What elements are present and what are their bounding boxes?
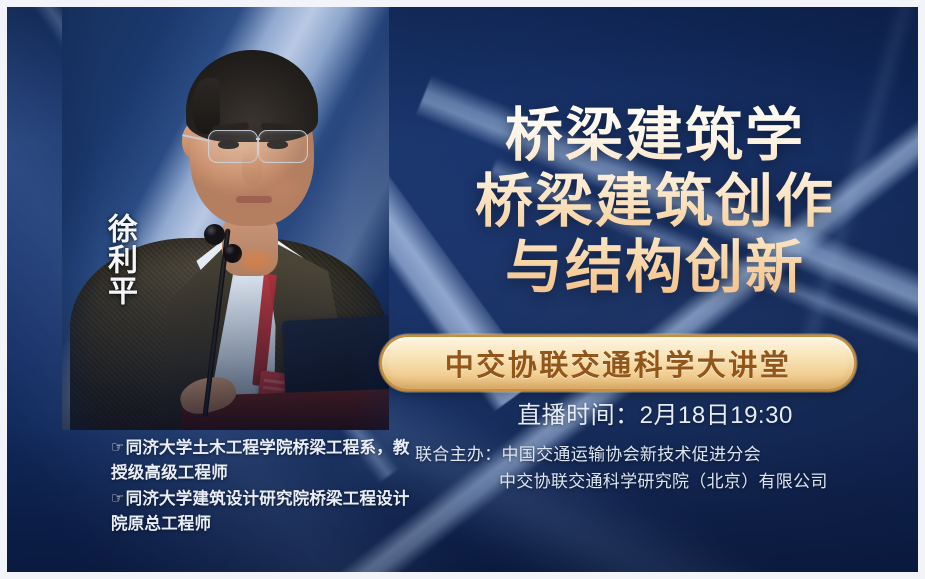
organizer-line-1: 联合主办：中国交通运输协会新技术促进分会 [415, 441, 915, 468]
page-title: 桥梁建筑学 桥梁建筑创作 与结构创新 [399, 103, 911, 301]
webinar-poster: 徐利平 ☞同济大学土木工程学院桥梁工程系，教授级高级工程师 ☞同济大学建筑设计研… [0, 0, 925, 579]
pointing-hand-icon: ☞ [111, 439, 125, 456]
livestream-time: 直播时间：2月18日19:30 [399, 395, 911, 430]
title-line-1: 桥梁建筑学 [399, 103, 911, 169]
credential-item: ☞同济大学土木工程学院桥梁工程系，教授级高级工程师 [111, 435, 411, 486]
organizers: 联合主办：中国交通运输协会新技术促进分会 中交协联交通科学研究院（北京）有限公司 [415, 441, 915, 495]
credential-text: 同济大学土木工程学院桥梁工程系，教授级高级工程师 [111, 439, 410, 482]
credential-text: 同济大学建筑设计研究院桥梁工程设计院原总工程师 [111, 490, 410, 533]
title-line-2: 桥梁建筑创作 [399, 169, 911, 235]
speaker-credentials: ☞同济大学土木工程学院桥梁工程系，教授级高级工程师 ☞同济大学建筑设计研究院桥梁… [111, 435, 411, 537]
credential-item: ☞同济大学建筑设计研究院桥梁工程设计院原总工程师 [111, 486, 411, 537]
poster-stage: 徐利平 ☞同济大学土木工程学院桥梁工程系，教授级高级工程师 ☞同济大学建筑设计研… [7, 7, 918, 572]
series-badge: 中交协联交通科学大讲堂 [382, 337, 854, 389]
title-line-3: 与结构创新 [399, 235, 911, 301]
organizer-line-2: 中交协联交通科学研究院（北京）有限公司 [415, 468, 915, 495]
series-badge-label: 中交协联交通科学大讲堂 [445, 342, 792, 384]
pointing-hand-icon: ☞ [111, 490, 125, 507]
speaker-name: 徐利平 [95, 213, 137, 306]
